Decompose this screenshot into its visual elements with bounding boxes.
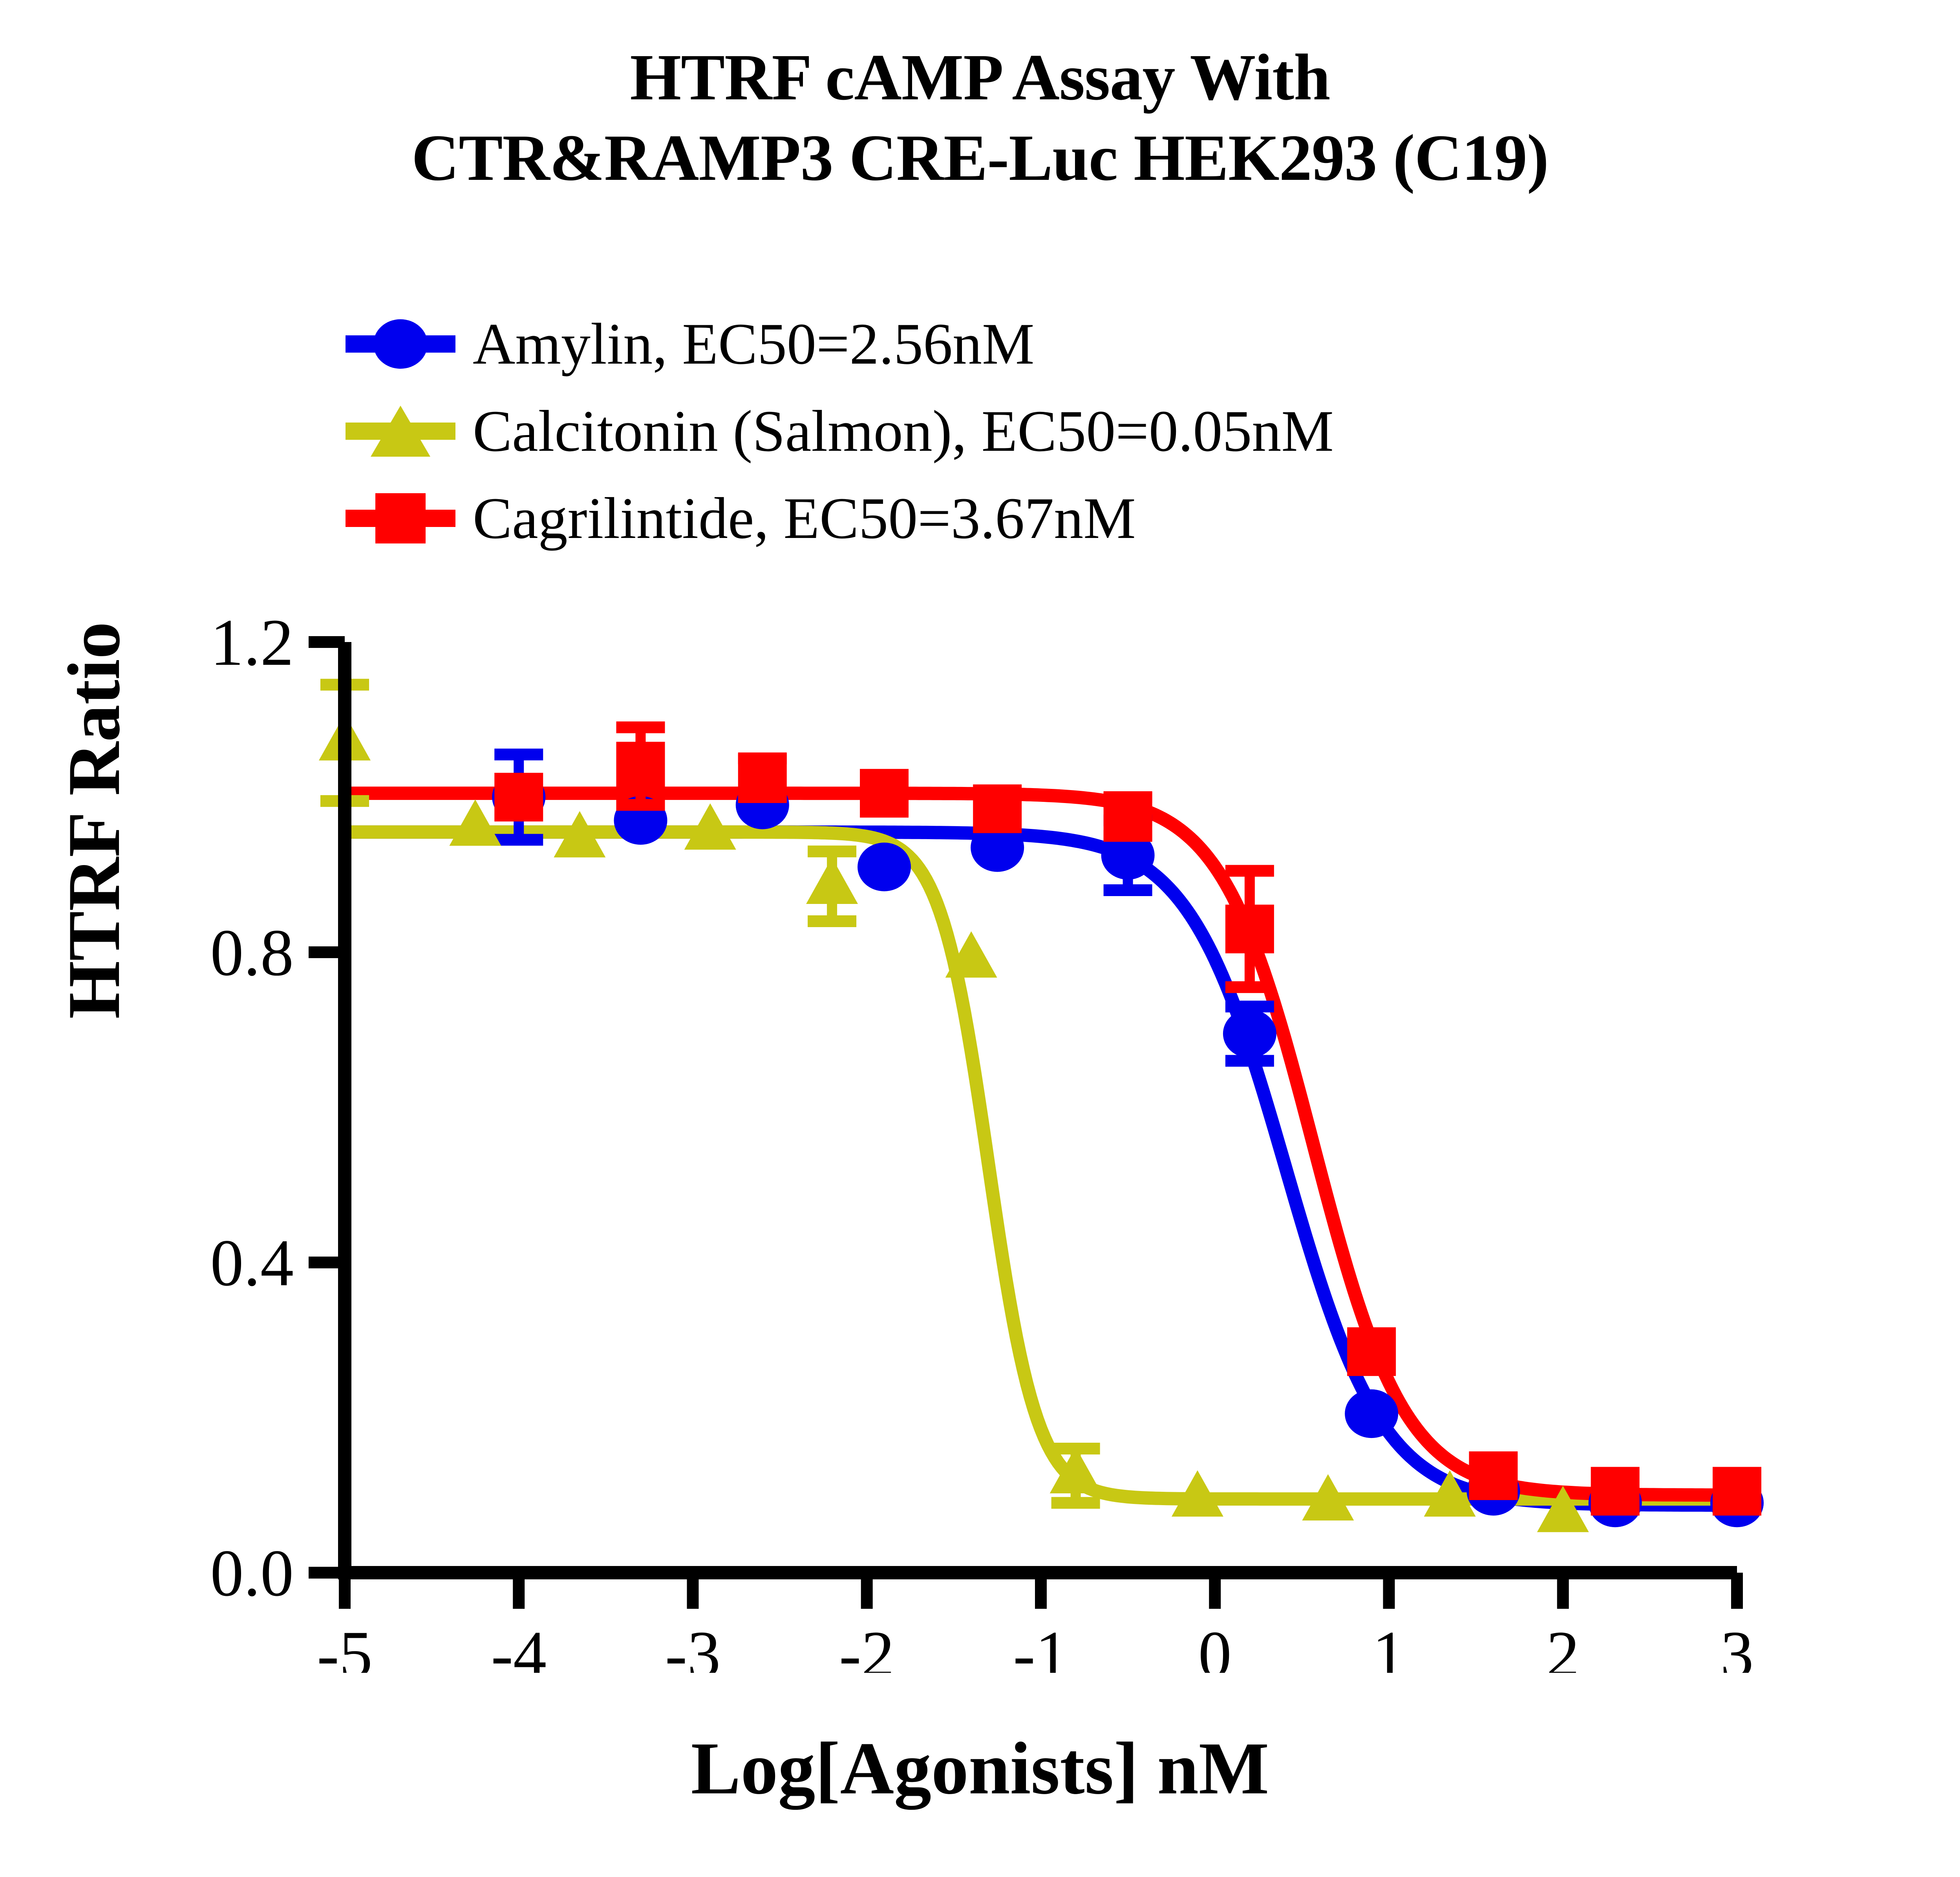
datapoint-cagrilintide[interactable] (1469, 1451, 1518, 1500)
datapoint-amylin[interactable] (1345, 1389, 1398, 1438)
datapoint-amylin[interactable] (857, 843, 911, 891)
y-tick-label: 0.8 (210, 916, 294, 990)
datapoint-cagrilintide[interactable] (1713, 1467, 1761, 1516)
legend-marker-calcitonin (346, 404, 455, 459)
x-tick-label: -4 (491, 1617, 547, 1673)
legend-marker-amylin (346, 316, 455, 371)
legend-label-amylin: Amylin, EC50=2.56nM (455, 315, 1035, 373)
chart-title-line1: HTRF cAMP Assay With (630, 41, 1330, 114)
chart-legend: Amylin, EC50=2.56nM Calcitonin (Salmon),… (346, 300, 1877, 562)
chart-page: HTRF cAMP Assay With CTR&RAMP3 CRE-Luc H… (0, 0, 1960, 1877)
datapoint-amylin[interactable] (1223, 1009, 1276, 1058)
datapoint-cagrilintide[interactable] (1104, 792, 1152, 841)
datapoint-cagrilintide[interactable] (973, 785, 1022, 833)
datapoint-cagrilintide[interactable] (1225, 905, 1274, 953)
curve-amylin (345, 832, 1737, 1505)
legend-item-cagrilintide[interactable]: Cagrilintide, EC50=3.67nM (346, 475, 1877, 562)
chart-title: HTRF cAMP Assay With CTR&RAMP3 CRE-Luc H… (0, 37, 1960, 198)
y-tick-label: 0.4 (210, 1226, 294, 1300)
y-axis-label: HTRF Ratio (51, 506, 137, 1134)
datapoint-cagrilintide[interactable] (1591, 1467, 1640, 1516)
y-tick-label: 1.2 (210, 613, 294, 679)
legend-item-amylin[interactable]: Amylin, EC50=2.56nM (346, 300, 1877, 388)
datapoint-cagrilintide[interactable] (860, 769, 909, 818)
datapoint-cagrilintide[interactable] (494, 773, 543, 821)
datapoint-calcitonin-salmon[interactable] (449, 799, 501, 846)
curve-cagrilintide (345, 793, 1737, 1495)
legend-item-calcitonin[interactable]: Calcitonin (Salmon), EC50=0.05nM (346, 388, 1877, 475)
legend-marker-cagrilintide (346, 491, 455, 546)
x-tick-label: 2 (1546, 1617, 1580, 1673)
curve-calcitonin-salmon (345, 832, 1737, 1499)
chart-title-line2: CTR&RAMP3 CRE-Luc HEK293 (C19) (0, 118, 1960, 198)
datapoint-cagrilintide[interactable] (616, 742, 665, 790)
datapoint-calcitonin-salmon[interactable] (806, 858, 858, 904)
x-tick-label: 0 (1198, 1617, 1232, 1673)
legend-label-calcitonin: Calcitonin (Salmon), EC50=0.05nM (455, 402, 1334, 461)
x-tick-label: -2 (839, 1617, 895, 1673)
datapoint-cagrilintide[interactable] (738, 754, 787, 802)
chart-plot-area: 0.00.40.81.2-5-4-3-2-10123 (0, 613, 1960, 1673)
x-tick-label: -1 (1013, 1617, 1069, 1673)
x-axis-label: Log[Agonists] nM (0, 1726, 1960, 1811)
y-tick-label: 0.0 (210, 1536, 294, 1610)
x-tick-label: 3 (1720, 1617, 1754, 1673)
dose-response-svg: 0.00.40.81.2-5-4-3-2-10123 (0, 613, 1960, 1673)
x-tick-label: -3 (665, 1617, 721, 1673)
legend-label-cagrilintide: Cagrilintide, EC50=3.67nM (455, 489, 1136, 548)
datapoint-cagrilintide[interactable] (1347, 1327, 1396, 1376)
x-tick-label: -5 (317, 1617, 373, 1673)
x-tick-label: 1 (1372, 1617, 1406, 1673)
